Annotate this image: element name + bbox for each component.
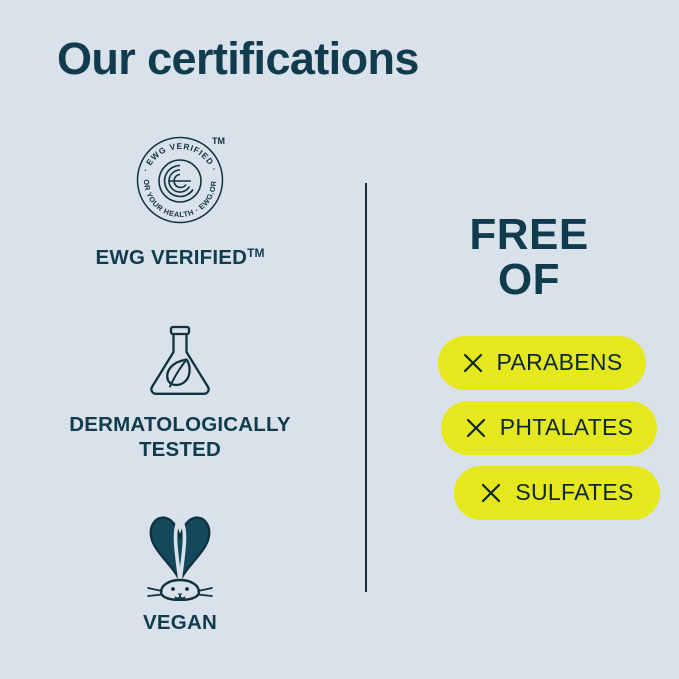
column-divider (365, 183, 367, 592)
certification-label-ewg-verified: EWG VERIFIEDTM (96, 245, 265, 271)
certification-item-vegan: VEGAN (20, 509, 340, 636)
free-of-heading-line-2: OF (420, 257, 638, 302)
svg-text:TM: TM (212, 136, 225, 146)
x-mark-icon (480, 482, 502, 504)
page-title: Our certifications (57, 34, 419, 84)
free-of-item-phtalates: PHTALATES (441, 401, 657, 455)
certification-label-line-1: DERMATOLOGICALLY (69, 413, 291, 436)
free-of-item-label: SULFATES (515, 479, 633, 506)
certification-item-dermatologically-tested: DERMATOLOGICALLY TESTED (20, 321, 340, 463)
free-of-heading: FREE OF (420, 212, 660, 303)
svg-text:· EWG VERIFIED ·: · EWG VERIFIED · (140, 141, 220, 173)
free-of-column: FREE OF PARABENS PHTALATES (420, 212, 660, 520)
certification-label-text: EWG VERIFIED (96, 246, 248, 269)
trademark-symbol: TM (247, 246, 264, 260)
free-of-item-label: PARABENS (497, 349, 623, 376)
x-mark-icon (462, 352, 484, 374)
certification-label-dermatologically-tested: DERMATOLOGICALLY TESTED (69, 412, 291, 463)
free-of-item-label: PHTALATES (500, 414, 634, 441)
free-of-item-parabens: PARABENS (438, 336, 646, 390)
certification-label-vegan: VEGAN (143, 610, 217, 636)
bunny-heart-ears-icon (130, 509, 230, 601)
certification-label-line-2: TESTED (139, 438, 221, 461)
free-of-item-sulfates: SULFATES (454, 466, 660, 520)
x-mark-icon (465, 417, 487, 439)
free-of-heading-line-1: FREE (420, 212, 638, 257)
free-of-list: PARABENS PHTALATES SULFATES (420, 336, 660, 520)
ewg-verified-badge-icon: · EWG VERIFIED · · FOR YOUR HEALTH · EWG… (128, 128, 232, 232)
certification-item-ewg-verified: · EWG VERIFIED · · FOR YOUR HEALTH · EWG… (20, 128, 340, 271)
certifications-column: · EWG VERIFIED · · FOR YOUR HEALTH · EWG… (20, 128, 340, 636)
flask-leaf-icon (141, 321, 219, 399)
